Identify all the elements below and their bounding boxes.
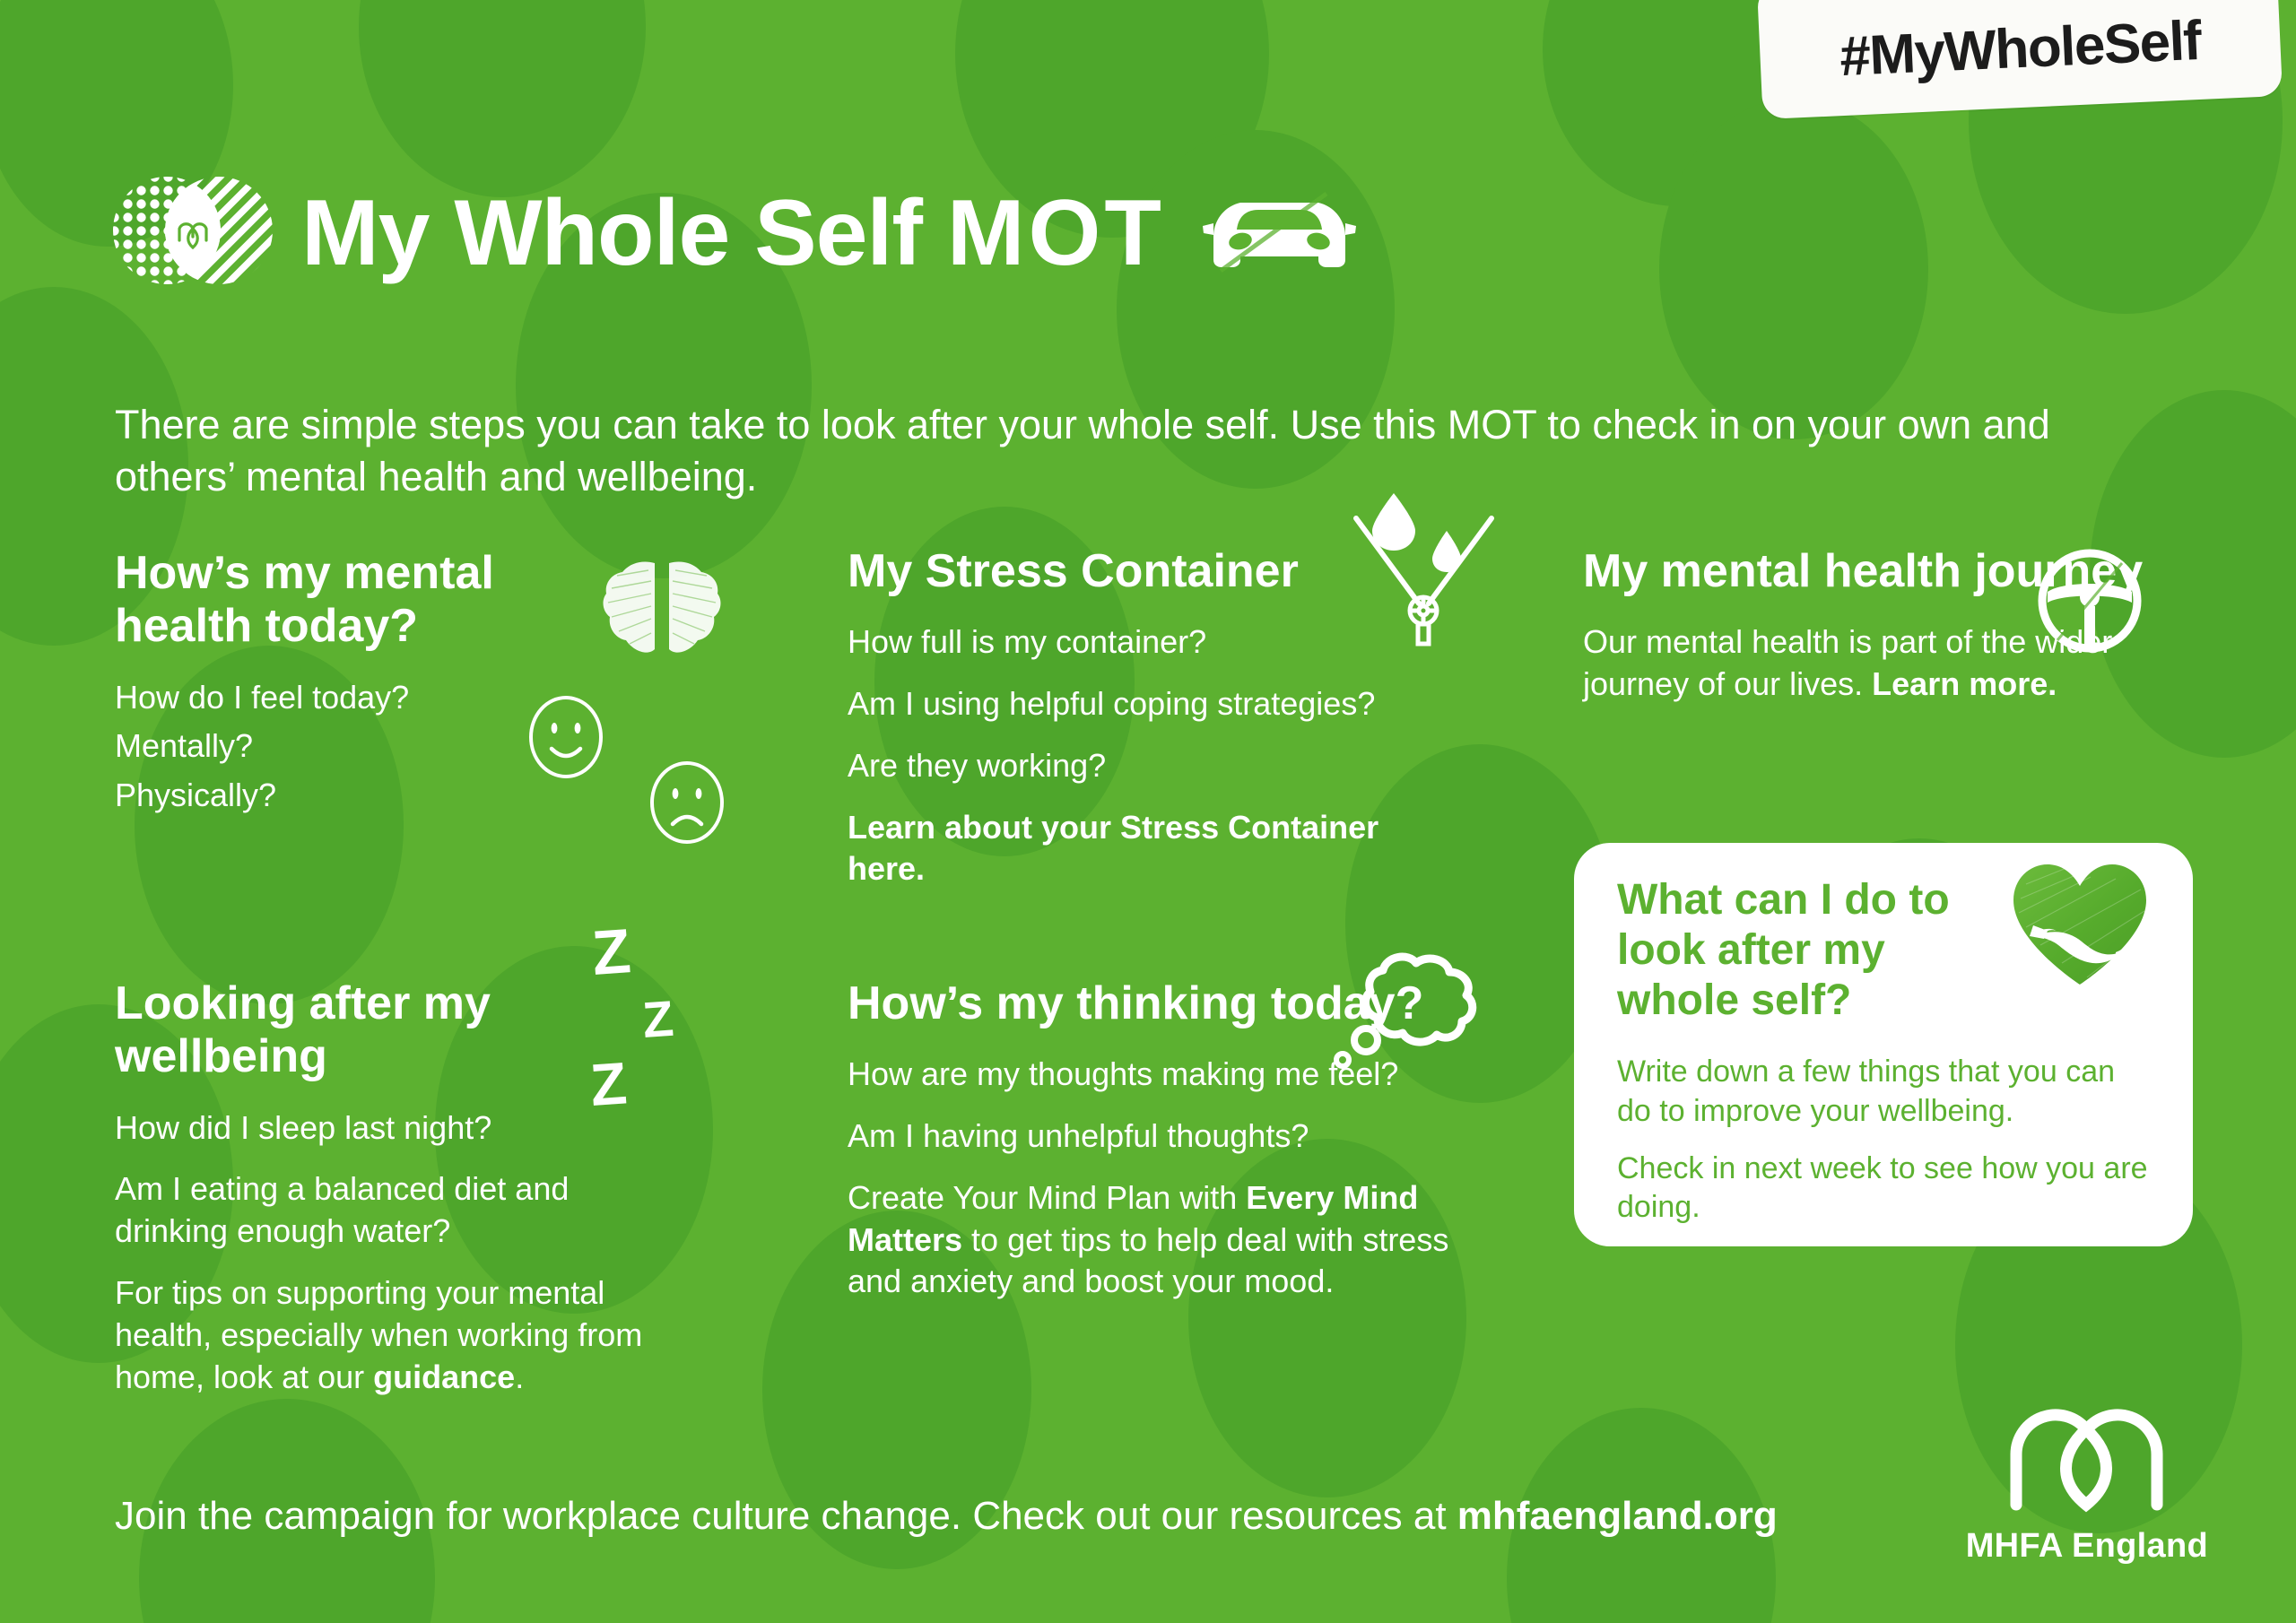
intro-paragraph: There are simple steps you can take to l…: [115, 399, 2151, 502]
happy-face-icon: [525, 692, 607, 786]
action-card: What can I do to look after my whole sel…: [1574, 843, 2193, 1246]
action-card-line-2: Check in next week to see how you are do…: [1617, 1150, 2155, 1228]
page-header: My Whole Self MOT: [108, 170, 1358, 296]
thought-bubble-icon: [1327, 950, 1484, 1076]
svg-text:Z: Z: [640, 990, 675, 1048]
page-title-mot: MOT: [947, 181, 1165, 285]
section-mental-health-line-2: Mentally?: [115, 725, 536, 768]
sad-face-icon: [646, 758, 728, 852]
section-thinking-line-3: Create Your Mind Plan with Every Mind Ma…: [848, 1177, 1457, 1303]
infographic-page: #MyWholeSelf: [0, 0, 2296, 1623]
page-title: My Whole Self MOT: [301, 187, 1165, 280]
section-mental-health-heading: How’s my mental health today?: [115, 547, 536, 654]
section-mental-health-line-1: How do I feel today?: [115, 677, 536, 719]
footer-url-link[interactable]: mhfaengland.org: [1457, 1494, 1778, 1538]
section-wellbeing-line-3: For tips on supporting your mental healt…: [115, 1272, 689, 1398]
stress-container-link[interactable]: Learn about your Stress Container here.: [848, 807, 1457, 891]
section-stress-container-line-2: Am I using helpful coping strategies?: [848, 683, 1457, 725]
mhfa-m-monogram-icon: [2004, 1399, 2170, 1520]
heart-with-hugging-arms-icon: [2008, 859, 2152, 998]
svg-text:Z: Z: [592, 1049, 629, 1116]
hashtag-label: #MyWholeSelf: [1838, 0, 2202, 89]
section-thinking-line-2: Am I having unhelpful thoughts?: [848, 1115, 1457, 1158]
page-title-main: My Whole Self: [301, 181, 922, 285]
section-stress-container-line-3: Are they working?: [848, 745, 1457, 787]
two-overlapping-circles-logo: [108, 170, 278, 296]
mhfa-england-logo: MHFA England: [1966, 1399, 2208, 1566]
journey-learn-more-link[interactable]: Learn more.: [1872, 665, 2057, 702]
steering-wheel-icon: [2036, 547, 2144, 659]
hashtag-badge: #MyWholeSelf: [1757, 0, 2283, 119]
brain-icon: [599, 558, 725, 665]
car-front-icon: [1201, 185, 1358, 288]
sleep-zzz-icon: Z Z Z: [592, 910, 758, 1121]
section-mental-health-line-3: Physically?: [115, 775, 536, 817]
wellbeing-guidance-link[interactable]: guidance: [373, 1358, 515, 1395]
action-card-heading: What can I do to look after my whole sel…: [1617, 875, 1994, 1026]
svg-text:Z: Z: [592, 916, 633, 988]
section-wellbeing-line-2: Am I eating a balanced diet and drinking…: [115, 1168, 689, 1253]
footer-text: Join the campaign for workplace culture …: [115, 1494, 1778, 1539]
funnel-with-water-drops-icon: [1345, 491, 1502, 653]
mhfa-england-wordmark: MHFA England: [1966, 1527, 2208, 1566]
section-mental-health: How’s my mental health today? How do I f…: [115, 547, 536, 817]
action-card-line-1: Write down a few things that you can do …: [1617, 1053, 2155, 1131]
